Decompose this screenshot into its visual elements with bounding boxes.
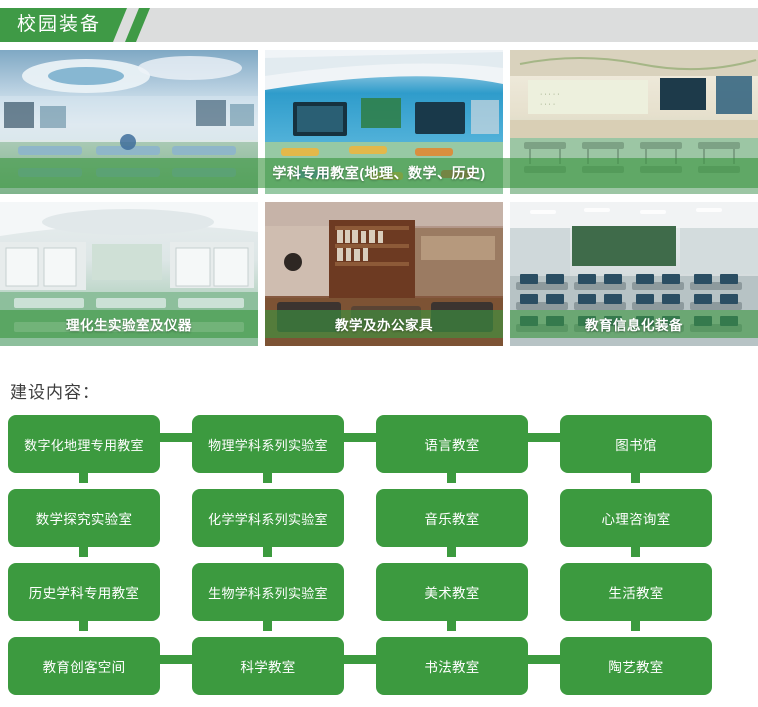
office-furniture-photo [265,202,503,346]
connector-stub-horizontal [160,433,192,442]
flow-box-ceramics-classroom[interactable]: 陶艺教室 [560,637,712,695]
history-classroom-photo: · · · · · · · · · [510,50,758,194]
gallery-cell-history[interactable]: · · · · · · · · · [510,50,758,194]
connector-stub-horizontal [160,655,192,664]
photo-gallery: · · · · · · · · · [0,50,758,355]
flow-box-science-classroom[interactable]: 科学教室 [192,637,344,695]
connector-stub-vertical [447,621,456,631]
svg-text:· · · · ·: · · · · · [540,91,559,98]
page-header: 校园装备 [0,8,758,42]
gallery-cell-math[interactable] [265,50,503,194]
flow-box-biology-lab-series[interactable]: 生物学科系列实验室 [192,563,344,621]
gallery-cell-furniture[interactable]: 教学及办公家具 [265,202,503,346]
gallery-cell-geography[interactable] [0,50,258,194]
svg-text:· · · ·: · · · · [540,101,555,108]
section-title: 建设内容： [10,378,100,403]
page-root: 校园装备 [0,0,758,707]
lab-room-photo [0,202,258,346]
connector-stub-vertical [447,547,456,557]
connector-stub-vertical [263,473,272,483]
flow-box-music-classroom[interactable]: 音乐教室 [376,489,528,547]
connector-stub-vertical [263,547,272,557]
connector-stub-vertical [79,473,88,483]
gallery-cell-informatization[interactable]: 教育信息化装备 [510,202,758,346]
computer-room-photo [510,202,758,346]
flow-box-history-classroom[interactable]: 历史学科专用教室 [8,563,160,621]
connector-stub-vertical [631,621,640,631]
connector-stub-horizontal [528,655,560,664]
connector-stub-vertical [263,621,272,631]
flow-box-library[interactable]: 图书馆 [560,415,712,473]
flow-box-art-classroom[interactable]: 美术教室 [376,563,528,621]
connector-stub-vertical [447,473,456,483]
flow-box-maker-space[interactable]: 教育创客空间 [8,637,160,695]
construction-content-grid: 数字化地理专用教室 数学探究实验室 历史学科专用教室 教育创客空间 物理学科系列… [0,415,758,707]
flow-box-language-classroom[interactable]: 语言教室 [376,415,528,473]
page-title: 校园装备 [17,8,101,42]
connector-stub-vertical [79,547,88,557]
gallery-cell-lab[interactable]: 理化生实验室及仪器 [0,202,258,346]
flow-box-math-inquiry-lab[interactable]: 数学探究实验室 [8,489,160,547]
connector-stub-horizontal [528,433,560,442]
connector-stub-horizontal [344,433,376,442]
flow-box-counseling-room[interactable]: 心理咨询室 [560,489,712,547]
gallery-row-1: · · · · · · · · · [0,50,758,194]
flow-box-physics-lab-series[interactable]: 物理学科系列实验室 [192,415,344,473]
flow-box-calligraphy-classroom[interactable]: 书法教室 [376,637,528,695]
geography-classroom-photo [0,50,258,194]
connector-stub-vertical [631,473,640,483]
flow-box-chemistry-lab-series[interactable]: 化学学科系列实验室 [192,489,344,547]
flow-box-life-classroom[interactable]: 生活教室 [560,563,712,621]
gallery-row-2: 理化生实验室及仪器 [0,202,758,346]
connector-stub-horizontal [344,655,376,664]
connector-stub-vertical [79,621,88,631]
connector-stub-vertical [631,547,640,557]
math-classroom-photo [265,50,503,194]
flow-box-digital-geography-classroom[interactable]: 数字化地理专用教室 [8,415,160,473]
